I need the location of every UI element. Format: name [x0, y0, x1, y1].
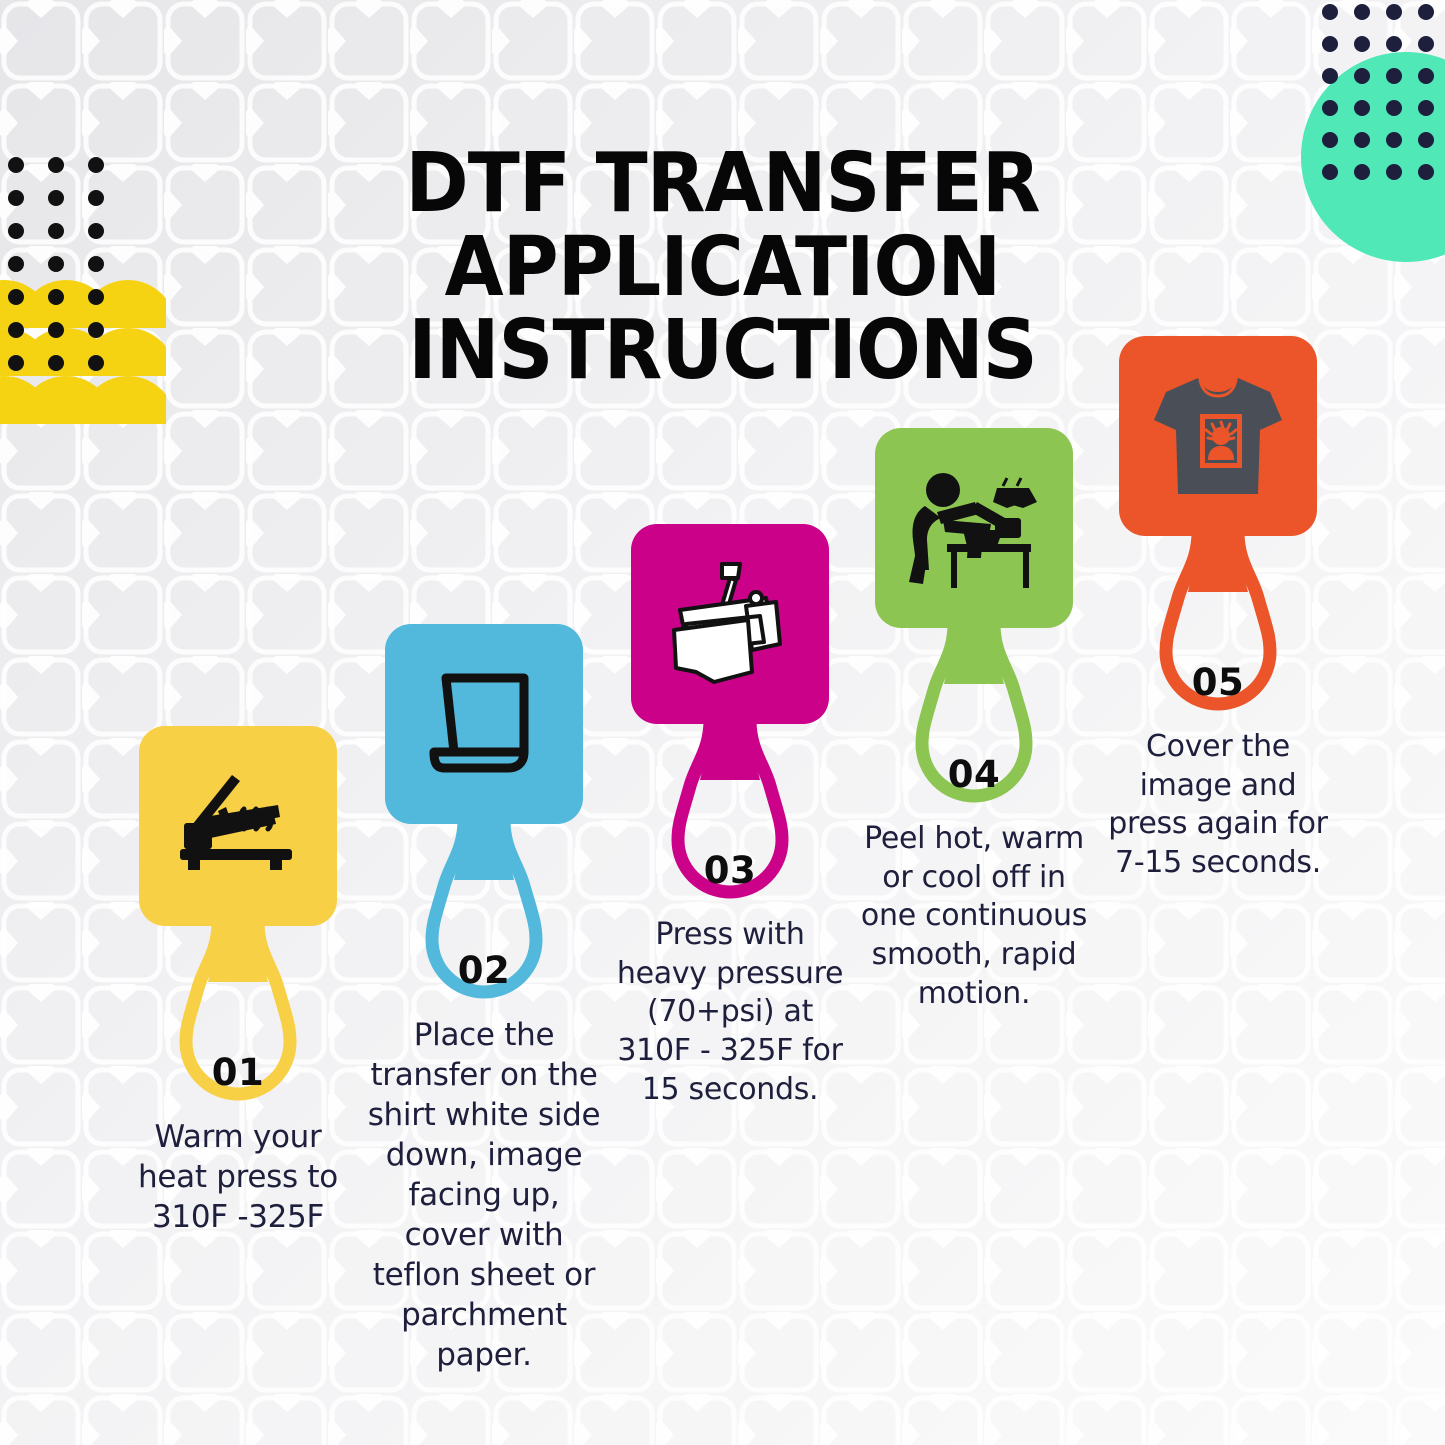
step-04-connector: 04 [848, 624, 1100, 814]
step-03-description: Press with heavy pressure (70+psi) at 31… [604, 916, 856, 1109]
step-03-connector: 03 [604, 720, 856, 910]
peel-transfer-person-icon [901, 462, 1047, 594]
title-line-1: DTF TRANSFER APPLICATION [405, 136, 1039, 315]
heat-press-machine-icon [660, 558, 800, 690]
step-03-icon-card[interactable] [631, 524, 829, 724]
step-02-icon-card[interactable] [385, 624, 583, 824]
step-card-03[interactable]: 03 Press with heavy pressure (70+psi) at… [604, 524, 856, 1109]
step-05-number: 05 [1092, 661, 1344, 704]
step-01-icon-card[interactable] [139, 726, 337, 926]
step-01-number: 01 [112, 1051, 364, 1094]
title-line-2: INSTRUCTIONS [181, 309, 1264, 393]
page-title: DTF TRANSFER APPLICATION INSTRUCTIONS [51, 142, 1395, 393]
step-card-05[interactable]: 05 Cover the image and press again for 7… [1092, 336, 1344, 883]
step-02-description: Place the transfer on the shirt white si… [358, 1016, 610, 1376]
step-card-01[interactable]: 01 Warm your heat press to 310F -325F [112, 726, 364, 1238]
step-card-02[interactable]: 02 Place the transfer on the shirt white… [358, 624, 610, 1376]
step-01-description: Warm your heat press to 310F -325F [112, 1118, 364, 1238]
transfer-sheet-icon [424, 664, 544, 784]
step-03-number: 03 [604, 849, 856, 892]
step-04-description: Peel hot, warm or cool off in one contin… [848, 820, 1100, 1013]
step-card-04[interactable]: 04 Peel hot, warm or cool off in one con… [848, 428, 1100, 1013]
step-05-description: Cover the image and press again for 7-15… [1092, 728, 1344, 883]
step-04-icon-card[interactable] [875, 428, 1073, 628]
step-01-connector: 01 [112, 922, 364, 1112]
heat-press-open-icon [174, 771, 302, 881]
step-02-number: 02 [358, 949, 610, 992]
step-02-connector: 02 [358, 820, 610, 1010]
step-05-connector: 05 [1092, 532, 1344, 722]
step-04-number: 04 [848, 753, 1100, 796]
